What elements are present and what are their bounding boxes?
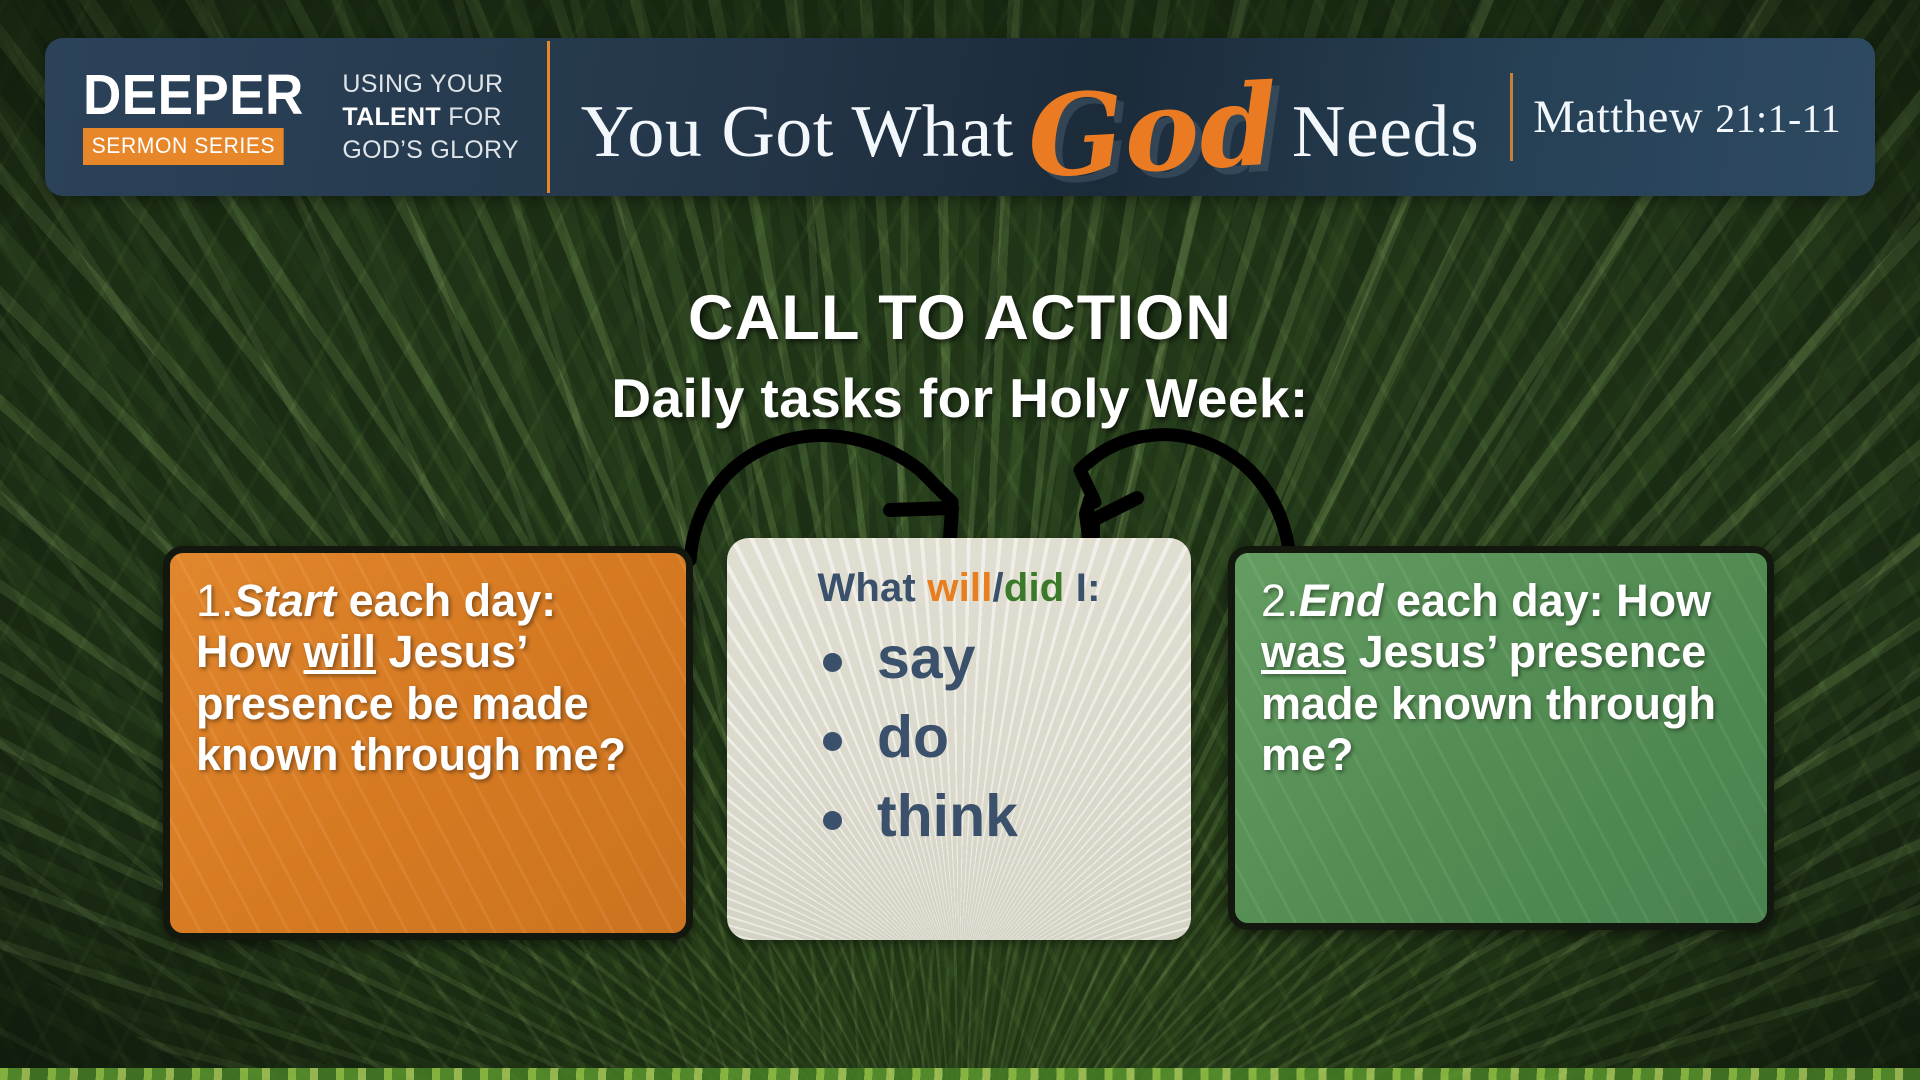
card-right-after-emphasis: each day: (1384, 575, 1604, 626)
background-bottom-strip (0, 1068, 1920, 1080)
card-left-body-underline: will (304, 626, 377, 677)
page-title: CALL TO ACTION (0, 282, 1920, 354)
slide-canvas: DEEPER SERMON SERIES USING YOUR TALENT F… (0, 0, 1920, 1080)
card-left-emphasis: Start (234, 575, 337, 626)
list-item: do (823, 698, 1191, 777)
sermon-title-wrap: You Got What God Needs (550, 38, 1510, 196)
card-end-each-day[interactable]: 2.End each day: How was Jesus’ presence … (1228, 546, 1774, 930)
card-right-number: 2. (1261, 575, 1299, 626)
card-left-text: 1.Start each day: How will Jesus’ presen… (170, 553, 686, 780)
card-what-will-did-i[interactable]: What will/did I: say do think (727, 538, 1191, 940)
card-left-after-emphasis: each day: (336, 575, 556, 626)
card-right-emphasis: End (1299, 575, 1384, 626)
card-center-heading-what: What (817, 566, 927, 610)
page-subtitle: Daily tasks for Holy Week: (0, 366, 1920, 430)
sermon-title-part2: Needs (1292, 90, 1479, 175)
sermon-title: You Got What God Needs (581, 52, 1480, 183)
banner-divider-right (1510, 73, 1513, 161)
card-center-heading-did: did (1004, 566, 1065, 610)
card-start-each-day[interactable]: 1.Start each day: How will Jesus’ presen… (163, 546, 693, 940)
card-center-list: say do think (727, 611, 1191, 856)
card-left-body-pre: How (196, 626, 304, 677)
card-right-body-underline: was (1261, 626, 1346, 677)
tagline-line-1: USING YOUR (342, 70, 503, 98)
tagline-line-3: GOD’S GLORY (342, 136, 519, 164)
tagline-talent: TALENT (342, 103, 441, 131)
series-tagline: USING YOUR TALENT FOR GOD’S GLORY (342, 68, 519, 167)
card-left-number: 1. (196, 575, 234, 626)
tagline-for: FOR (448, 103, 502, 131)
series-logo: DEEPER SERMON SERIES USING YOUR TALENT F… (83, 38, 519, 196)
card-right-body-pre: How (1616, 575, 1711, 626)
series-logo-left: DEEPER SERMON SERIES (83, 69, 320, 164)
card-center-heading-i: I: (1064, 566, 1100, 610)
sermon-title-script-god: God (1010, 58, 1295, 196)
sermon-title-part1: You Got What (581, 90, 1014, 175)
card-center-heading: What will/did I: (727, 538, 1191, 611)
card-center-heading-slash: / (993, 566, 1004, 610)
scripture-verse: 21:1-11 (1715, 96, 1841, 141)
card-center-heading-will: will (927, 566, 992, 610)
scripture-reference: Matthew 21:1-11 (1533, 90, 1841, 144)
list-item: think (823, 777, 1191, 856)
series-badge: SERMON SERIES (83, 128, 284, 165)
card-right-text: 2.End each day: How was Jesus’ presence … (1235, 553, 1767, 780)
series-title: DEEPER (83, 69, 304, 121)
scripture-book: Matthew (1533, 91, 1703, 143)
header-banner: DEEPER SERMON SERIES USING YOUR TALENT F… (45, 38, 1875, 196)
list-item: say (823, 619, 1191, 698)
